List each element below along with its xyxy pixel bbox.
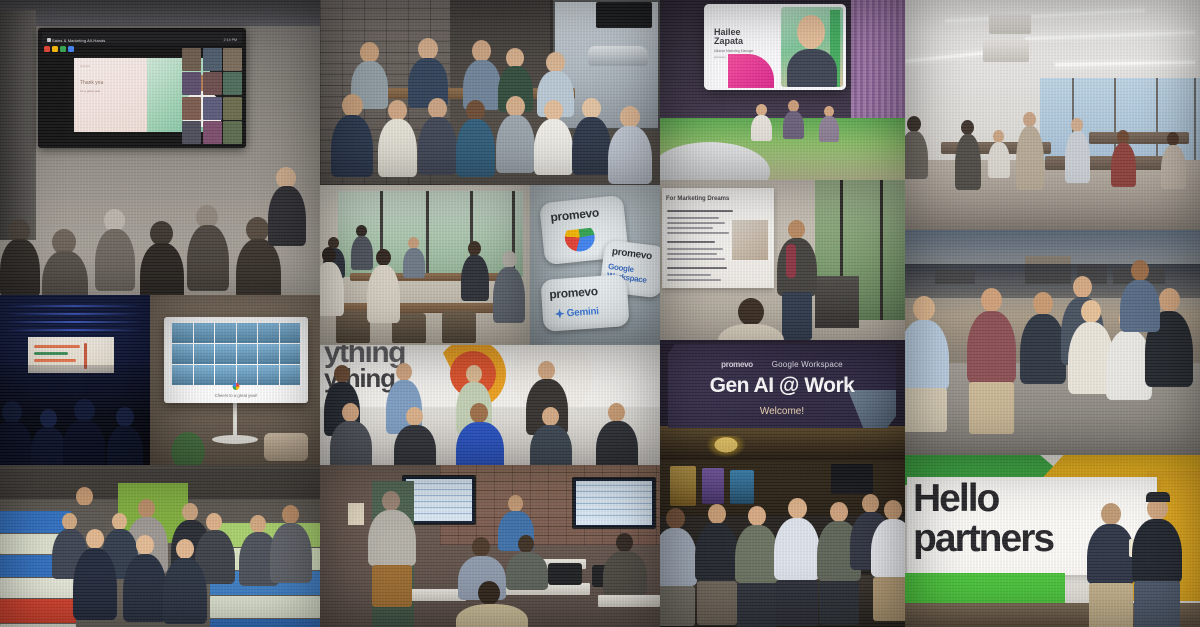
cookie-label: promevo xyxy=(550,205,600,224)
tile-presenter-projector: For Marketing Dreams xyxy=(660,180,905,350)
google-logo-icon xyxy=(233,383,240,390)
tile-food-bank-volunteers xyxy=(0,465,320,627)
slide-heading: Thank you xyxy=(80,80,103,86)
banner-welcome-text: Welcome! xyxy=(668,406,896,417)
slide-caption: promevo xyxy=(80,65,90,68)
stage-screen: Hailee Zapata Alliance Marketing Manager… xyxy=(704,4,846,90)
gemini-spark-icon xyxy=(554,308,565,319)
speaker-last-name: Zapata xyxy=(714,37,743,46)
meet-time: 2:14 PM xyxy=(224,38,237,42)
tile-video-call-tv: Cheers to a great year! xyxy=(150,295,320,465)
tile-rooftop-group xyxy=(905,230,1200,455)
event-banner: promevo Google Workspace Gen AI @ Work W… xyxy=(668,344,896,428)
banner-brand-google-workspace: Google Workspace xyxy=(772,360,843,369)
cookie-label: promevo xyxy=(611,246,652,262)
speaker-headshot xyxy=(781,7,843,87)
ceiling-projector xyxy=(983,40,1029,62)
google-dots-icon xyxy=(44,46,74,52)
slide-heading: For Marketing Dreams xyxy=(666,196,729,202)
headline-line-1: Hello xyxy=(913,481,998,516)
wall-tv xyxy=(596,2,652,28)
photo-collage: Sales & Marketing All-Hands 2:14 PM prom… xyxy=(0,0,1200,627)
tile-arcade-team-photo xyxy=(660,460,905,627)
tile-office-classroom xyxy=(905,0,1200,230)
cookie-promevo-gemini: promevo Gemini xyxy=(540,274,629,332)
meet-participant-grid xyxy=(182,48,242,144)
cookie-sublabel: Gemini xyxy=(566,306,599,319)
banner-brand-promevo: promevo xyxy=(721,360,753,369)
tile-bar-group-photo xyxy=(320,0,660,185)
tile-hailee-zapata-stage: Hailee Zapata Alliance Marketing Manager… xyxy=(660,0,905,180)
wall-monitor: Cheers to a great year! xyxy=(164,317,308,403)
tile-cafe-meeting xyxy=(320,185,530,345)
projector-screen: For Marketing Dreams xyxy=(662,188,774,288)
tile-mural-group-photo: ything ything. xyxy=(320,345,660,465)
tile-meet-presentation-room: Sales & Marketing All-Hands 2:14 PM prom… xyxy=(0,0,320,295)
google-logo-icon xyxy=(563,222,596,253)
tile-dark-auditorium xyxy=(0,295,150,465)
tile-training-room xyxy=(320,465,660,627)
slide-subheading: for a great year xyxy=(80,89,100,93)
headline-line-2: partners xyxy=(913,521,1053,556)
cookie-label: promevo xyxy=(549,284,598,301)
venue-sign xyxy=(831,464,873,494)
paper-notice xyxy=(348,503,364,525)
tile-gen-ai-banner: promevo Google Workspace Gen AI @ Work W… xyxy=(660,340,905,460)
tile-promevo-cookies: promevo promevo Google Workspace promevo… xyxy=(530,185,660,345)
arcade-lights xyxy=(706,436,746,458)
ceiling-projector xyxy=(989,14,1031,34)
presentation-display xyxy=(572,477,656,529)
video-grid xyxy=(172,323,300,385)
audience-silhouettes xyxy=(0,145,320,295)
tile-hello-partners-wall: Hello partners xyxy=(905,455,1200,627)
speaker-company: promevo xyxy=(714,55,726,59)
video-caption: Cheers to a great year! xyxy=(164,393,308,398)
wall-display: Sales & Marketing All-Hands 2:14 PM prom… xyxy=(38,28,246,148)
green-accent-bar xyxy=(905,573,1065,607)
speaker-role: Alliance Marketing Manager xyxy=(714,49,754,53)
meet-presenting-icon xyxy=(47,38,51,42)
banner-headline: Gen AI @ Work xyxy=(668,374,896,398)
meet-header-title: Sales & Marketing All-Hands xyxy=(52,38,105,43)
